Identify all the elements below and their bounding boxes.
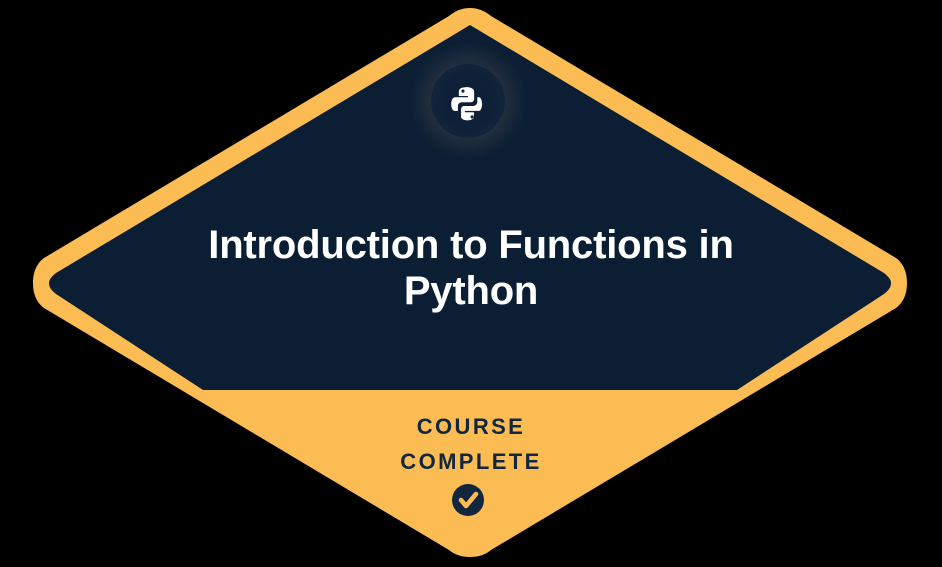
course-completion-badge: Introduction to Functions in Python COUR… xyxy=(0,0,942,567)
badge-graphic xyxy=(0,0,942,567)
check-circle-icon xyxy=(452,484,484,516)
badge-navy-panel xyxy=(49,25,891,390)
